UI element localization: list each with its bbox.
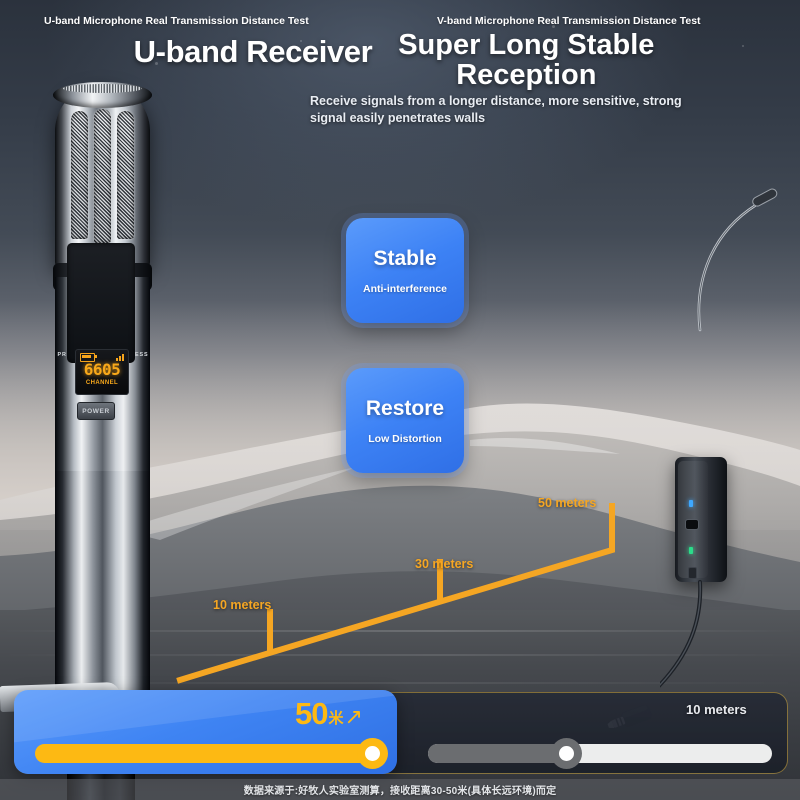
power-button[interactable]: POWER [77,402,115,420]
uband-value-unit: 米 [328,711,343,728]
distance-label-10m: 10 meters [213,598,271,612]
vband-test-title: V-band Microphone Real Transmission Dist… [437,14,701,29]
uband-distance-value: 50 米 ↗ [295,700,363,728]
uband-value-number: 50 [295,700,327,728]
page-title: U-band Receiver [134,30,373,70]
grille-slot [94,109,111,243]
up-arrow-icon: ↗ [345,708,363,728]
feature-badge-stable[interactable]: Stable Anti-interference [346,218,464,323]
headline-block: U-band Receiver Super Long Stable Recept… [0,30,800,91]
grille-slot [117,111,134,239]
vband-slider[interactable] [428,744,772,763]
distance-label-30m: 30 meters [415,557,473,571]
lcd-frequency-value: 6605 [76,360,128,379]
vband-slider-knob[interactable] [551,738,582,769]
badge-title: Stable [373,247,436,271]
vband-slider-fill [428,744,566,763]
badge-title: Restore [366,397,444,421]
product-infographic: U-band Receiver Super Long Stable Recept… [0,0,800,800]
footer-note: 数据来源于:好牧人实验室测算，接收距离30-50米(具体长远环境)而定 [0,779,800,800]
knurl-texture [63,84,142,93]
lcd-channel-label: CHANNEL [76,380,128,386]
transmission-distance-path [0,440,800,720]
distance-label-50m: 50 meters [538,496,596,510]
uband-slider-track[interactable] [35,744,380,763]
page-subtitle: Super Long Stable Reception [386,30,666,91]
tagline-text: Receive signals from a longer distance, … [310,93,710,127]
antenna-icon [660,175,800,335]
uband-slider-knob[interactable] [357,738,388,769]
display-plate [67,243,135,363]
grille-slot [71,111,88,239]
vband-distance-value: 10 meters [686,702,747,717]
uband-test-title: U-band Microphone Real Transmission Dist… [44,14,309,29]
lcd-display: 6605 CHANNEL [75,349,129,395]
badge-subtitle: Anti-interference [363,283,447,295]
